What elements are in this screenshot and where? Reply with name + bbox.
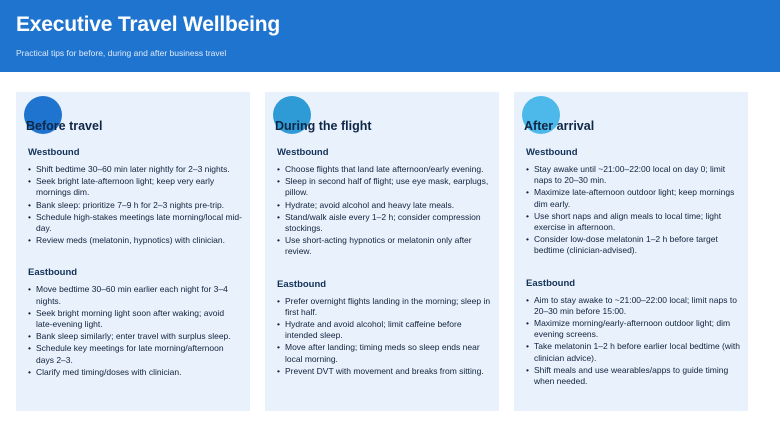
- list-item: Sleep in second half of flight; use eye …: [277, 176, 491, 198]
- list-item: Bank sleep similarly; enter travel with …: [28, 331, 242, 342]
- list-item: Maximize morning/early-afternoon outdoor…: [526, 318, 740, 340]
- card-title: Before travel: [26, 118, 102, 134]
- card-title: During the flight: [275, 118, 372, 134]
- bullet-list: Move bedtime 30–60 min earlier each nigh…: [28, 284, 242, 378]
- section-westbound: Westbound Shift bedtime 30–60 min later …: [28, 146, 242, 246]
- list-item: Schedule key meetings for late morning/a…: [28, 343, 242, 365]
- card-body: Westbound Choose flights that land late …: [277, 146, 491, 378]
- section-westbound: Westbound Choose flights that land late …: [277, 146, 491, 258]
- list-item: Maximize late-afternoon outdoor light; k…: [526, 187, 740, 209]
- bullet-list: Shift bedtime 30–60 min later nightly fo…: [28, 164, 242, 246]
- section-spacer: [277, 259, 491, 278]
- list-item: Move after landing; timing meds so sleep…: [277, 342, 491, 364]
- list-item: Use short naps and align meals to local …: [526, 211, 740, 233]
- section-eastbound: Eastbound Move bedtime 30–60 min earlier…: [28, 266, 242, 378]
- card-body: Westbound Stay awake until ~21:00–22:00 …: [526, 146, 740, 388]
- section-heading: Westbound: [526, 146, 740, 159]
- bullet-list: Choose flights that land late afternoon/…: [277, 164, 491, 258]
- section-spacer: [28, 247, 242, 266]
- page-header: Executive Travel Wellbeing Practical tip…: [0, 0, 780, 72]
- card-before-travel: Before travel Westbound Shift bedtime 30…: [16, 92, 250, 411]
- list-item: Aim to stay awake to ~21:00–22:00 local;…: [526, 295, 740, 317]
- list-item: Seek bright late-afternoon light; keep v…: [28, 176, 242, 198]
- list-item: Bank sleep: prioritize 7–9 h for 2–3 nig…: [28, 200, 242, 211]
- list-item: Shift meals and use wearables/apps to gu…: [526, 365, 740, 387]
- page-subtitle: Practical tips for before, during and af…: [16, 47, 780, 59]
- section-heading: Eastbound: [28, 266, 242, 279]
- list-item: Prefer overnight flights landing in the …: [277, 296, 491, 318]
- section-spacer: [526, 258, 740, 277]
- card-title: After arrival: [524, 118, 594, 134]
- bullet-list: Stay awake until ~21:00–22:00 local on d…: [526, 164, 740, 257]
- columns-container: Before travel Westbound Shift bedtime 30…: [16, 92, 764, 411]
- list-item: Prevent DVT with movement and breaks fro…: [277, 366, 491, 377]
- list-item: Take melatonin 1–2 h before earlier loca…: [526, 341, 740, 363]
- list-item: Clarify med timing/doses with clinician.: [28, 367, 242, 378]
- list-item: Stand/walk aisle every 1–2 h; consider c…: [277, 212, 491, 234]
- list-item: Consider low-dose melatonin 1–2 h before…: [526, 234, 740, 256]
- card-body: Westbound Shift bedtime 30–60 min later …: [28, 146, 242, 379]
- section-heading: Westbound: [28, 146, 242, 159]
- list-item: Choose flights that land late afternoon/…: [277, 164, 491, 175]
- section-eastbound: Eastbound Prefer overnight flights landi…: [277, 278, 491, 377]
- card-during-the-flight: During the flight Westbound Choose fligh…: [265, 92, 499, 411]
- list-item: Schedule high-stakes meetings late morni…: [28, 212, 242, 234]
- list-item: Review meds (melatonin, hypnotics) with …: [28, 235, 242, 246]
- list-item: Use short-acting hypnotics or melatonin …: [277, 235, 491, 257]
- section-heading: Westbound: [277, 146, 491, 159]
- list-item: Seek bright morning light soon after wak…: [28, 308, 242, 330]
- section-eastbound: Eastbound Aim to stay awake to ~21:00–22…: [526, 277, 740, 388]
- list-item: Stay awake until ~21:00–22:00 local on d…: [526, 164, 740, 186]
- section-westbound: Westbound Stay awake until ~21:00–22:00 …: [526, 146, 740, 257]
- bullet-list: Prefer overnight flights landing in the …: [277, 296, 491, 377]
- page-title: Executive Travel Wellbeing: [16, 12, 780, 38]
- list-item: Hydrate; avoid alcohol and heavy late me…: [277, 200, 491, 211]
- section-heading: Eastbound: [526, 277, 740, 290]
- card-after-arrival: After arrival Westbound Stay awake until…: [514, 92, 748, 411]
- list-item: Shift bedtime 30–60 min later nightly fo…: [28, 164, 242, 175]
- section-heading: Eastbound: [277, 278, 491, 291]
- bullet-list: Aim to stay awake to ~21:00–22:00 local;…: [526, 295, 740, 388]
- list-item: Hydrate and avoid alcohol; limit caffein…: [277, 319, 491, 341]
- slide-page: Executive Travel Wellbeing Practical tip…: [0, 0, 780, 424]
- list-item: Move bedtime 30–60 min earlier each nigh…: [28, 284, 242, 306]
